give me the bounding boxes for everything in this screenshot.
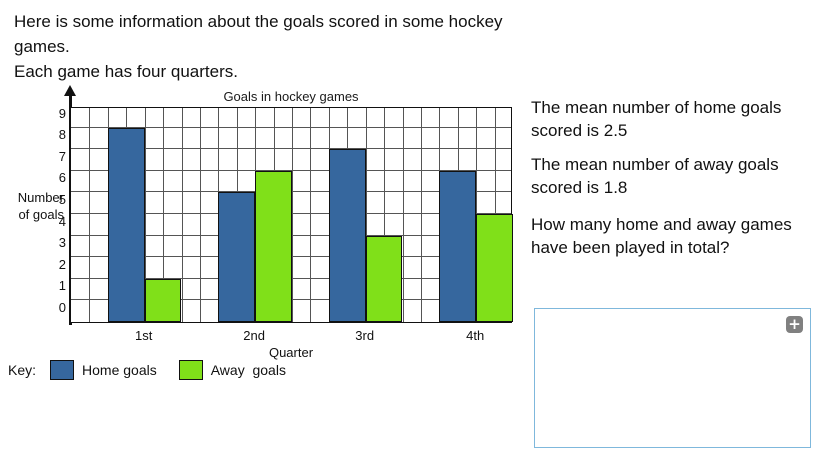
x-tick-label: 1st bbox=[135, 328, 152, 343]
y-tick-label: 7 bbox=[46, 149, 66, 164]
x-tick-label: 4th bbox=[466, 328, 484, 343]
chart-legend: Key: Home goals Away goals bbox=[8, 358, 308, 382]
bar-home-2nd bbox=[218, 192, 255, 322]
bar-away-3rd bbox=[366, 236, 403, 322]
chart-title: Goals in hockey games bbox=[70, 89, 512, 104]
fact-home-mean: The mean number of home goals scored is … bbox=[531, 96, 811, 142]
bar-home-4th bbox=[439, 171, 476, 322]
gridline-vertical bbox=[89, 108, 90, 322]
legend-item-home: Home goals bbox=[50, 360, 157, 380]
bar-away-4th bbox=[476, 214, 513, 322]
y-axis-arrow-icon bbox=[64, 85, 76, 96]
gridline-vertical bbox=[182, 108, 183, 322]
bar-away-2nd bbox=[255, 171, 292, 322]
x-tick-label: 3rd bbox=[355, 328, 374, 343]
y-tick-label: 0 bbox=[46, 300, 66, 315]
y-tick-label: 9 bbox=[46, 106, 66, 121]
y-tick-label: 8 bbox=[46, 127, 66, 142]
legend-label-home: Home goals bbox=[82, 362, 157, 378]
y-tick-label: 6 bbox=[46, 170, 66, 185]
y-tick-label: 1 bbox=[46, 278, 66, 293]
legend-item-away: Away goals bbox=[179, 360, 286, 380]
y-tick-label: 5 bbox=[46, 192, 66, 207]
answer-input-box[interactable]: + bbox=[534, 308, 811, 448]
legend-label-away: Away goals bbox=[211, 362, 286, 378]
legend-swatch-home-icon bbox=[50, 360, 74, 380]
bar-chart: Goals in hockey games Number of goals 01… bbox=[0, 85, 520, 385]
bar-home-1st bbox=[108, 128, 145, 322]
x-tick-label: 2nd bbox=[243, 328, 265, 343]
legend-swatch-away-icon bbox=[179, 360, 203, 380]
worksheet-page: Here is some information about the goals… bbox=[0, 0, 820, 472]
legend-title: Key: bbox=[8, 362, 36, 378]
y-axis-ticks: 0123456789 bbox=[42, 107, 66, 323]
intro-text: Here is some information about the goals… bbox=[14, 9, 554, 84]
question-text: How many home and away games have been p… bbox=[531, 213, 816, 259]
gridline-vertical bbox=[310, 108, 311, 322]
gridline-vertical bbox=[403, 108, 404, 322]
info-panel: The mean number of home goals scored is … bbox=[531, 96, 820, 259]
y-tick-label: 2 bbox=[46, 257, 66, 272]
y-tick-label: 4 bbox=[46, 214, 66, 229]
gridline-vertical bbox=[292, 108, 293, 322]
bar-away-1st bbox=[145, 279, 182, 322]
fact-away-mean: The mean number of away goals scored is … bbox=[531, 153, 811, 199]
gridline-vertical bbox=[200, 108, 201, 322]
plot-grid bbox=[70, 107, 512, 323]
bar-home-3rd bbox=[329, 149, 366, 322]
y-tick-label: 3 bbox=[46, 235, 66, 250]
add-icon[interactable]: + bbox=[786, 316, 803, 333]
gridline-vertical bbox=[421, 108, 422, 322]
